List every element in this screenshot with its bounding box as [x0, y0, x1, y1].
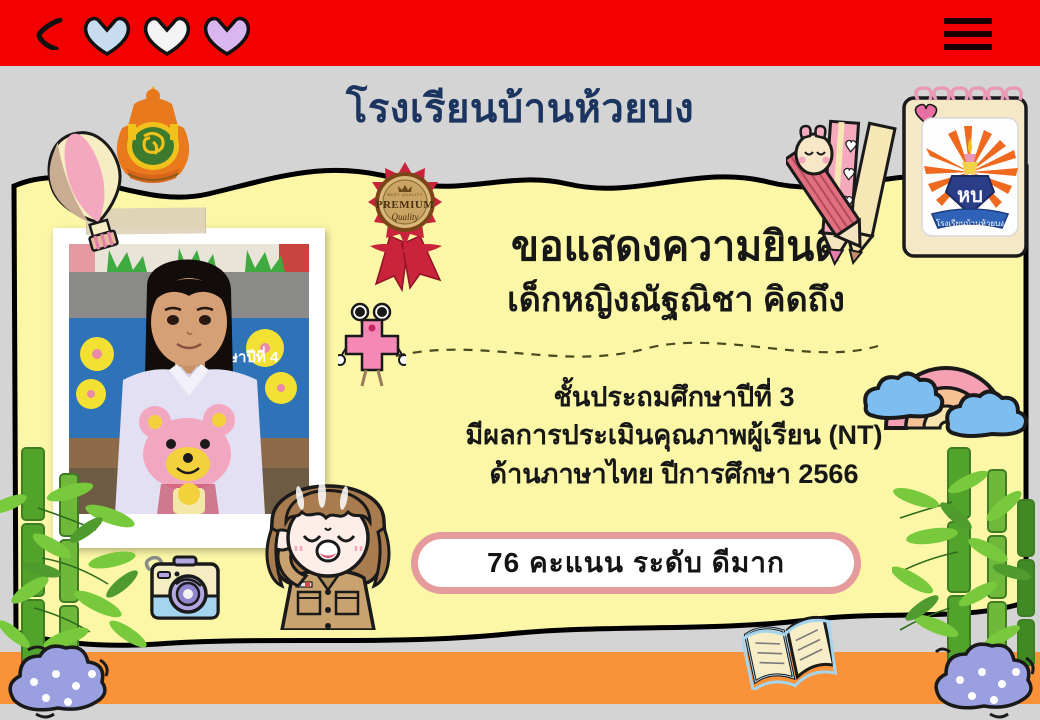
heart-blue-icon[interactable] — [80, 14, 134, 56]
heart-white-icon[interactable] — [140, 14, 194, 56]
ministry-emblem-icon — [112, 84, 194, 192]
top-app-bar — [0, 0, 1040, 66]
svg-text:หบ: หบ — [957, 185, 983, 207]
student-photo: กษาปีที่ 4 — [69, 244, 309, 514]
heart-sticker-group — [80, 14, 254, 56]
heart-purple-icon[interactable] — [200, 14, 254, 56]
hamburger-line-2 — [944, 31, 992, 37]
certificate-page: กษาปีที่ 4 — [0, 0, 1040, 720]
hamburger-menu-icon[interactable] — [944, 18, 992, 50]
student-photo-frame[interactable]: กษาปีที่ 4 — [53, 228, 325, 548]
back-chevron-icon[interactable] — [36, 18, 66, 50]
student-photo-illustration: กษาปีที่ 4 — [69, 244, 309, 514]
score-badge-text: 76 คะแนน ระดับ ดีมาก — [487, 541, 785, 585]
score-badge[interactable]: 76 คะแนน ระดับ ดีมาก — [411, 532, 861, 594]
hamburger-line-3 — [944, 44, 992, 50]
svg-text:โรงเรียนบ้านห้วยบง: โรงเรียนบ้านห้วยบง — [936, 218, 1004, 228]
school-logo-icon: หบ โรงเรียนบ้านห้วยบง — [892, 80, 1038, 266]
hamburger-line-1 — [944, 18, 992, 24]
